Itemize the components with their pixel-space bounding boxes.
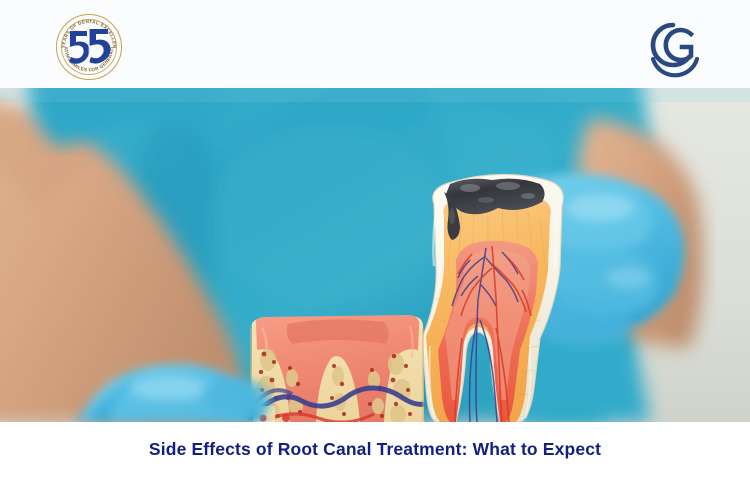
brand-logo-cg[interactable]: [645, 17, 703, 79]
site-header: 55 YEARS OF DENTAL EXCELLENCE CREATING S…: [0, 0, 750, 88]
hero-photo: [0, 88, 750, 422]
article-header-banner: 55 YEARS OF DENTAL EXCELLENCE CREATING S…: [0, 0, 750, 500]
anniversary-seal-logo[interactable]: 55 YEARS OF DENTAL EXCELLENCE CREATING S…: [52, 12, 126, 82]
hero-photo-illustration: [0, 88, 750, 422]
article-title: Side Effects of Root Canal Treatment: Wh…: [149, 439, 601, 483]
cg-monogram-icon: [653, 25, 697, 75]
gum-jaw-bone-model: [250, 315, 424, 422]
caption-bar: Side Effects of Root Canal Treatment: Wh…: [0, 422, 750, 500]
seal-number-55: [56, 14, 122, 80]
